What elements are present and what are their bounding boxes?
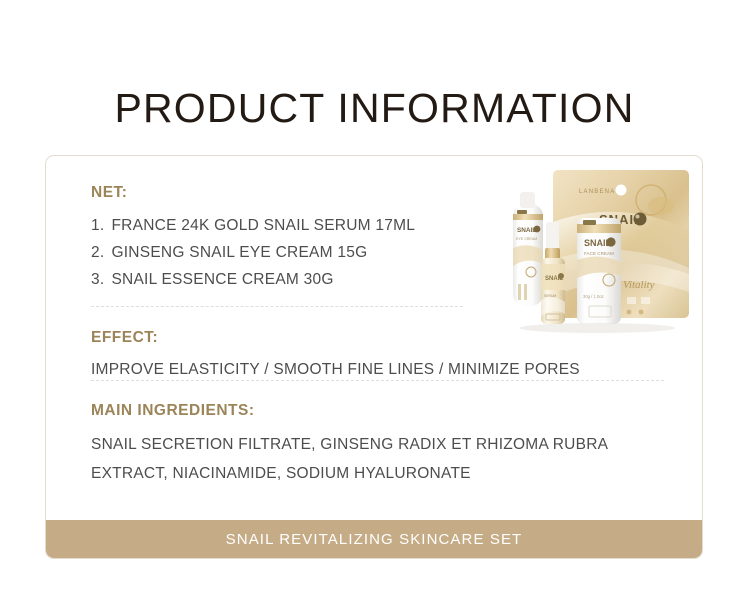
net-item-text: FRANCE 24K GOLD SNAIL SERUM 17ML xyxy=(111,217,415,234)
svg-text:EYE CREAM: EYE CREAM xyxy=(516,237,537,241)
section-divider xyxy=(91,380,664,381)
section-ingredients-heading: MAIN INGREDIENTS: xyxy=(91,401,608,421)
ingredients-line-2: EXTRACT, NIACINAMIDE, SODIUM HYALURONATE xyxy=(91,459,608,488)
face-cream-tube-image: SNAIL FACE CREAM 30g / 1.0oz xyxy=(577,218,621,324)
eye-cream-tube-image: SNAIL EYE CREAM xyxy=(513,192,543,306)
ingredients-line-1: SNAIL SECRETION FILTRATE, GINSENG RADIX … xyxy=(91,430,608,459)
svg-text:30g / 1.0oz: 30g / 1.0oz xyxy=(583,294,604,299)
net-item-text: SNAIL ESSENCE CREAM 30G xyxy=(111,271,333,288)
net-item-number: 2. xyxy=(91,244,104,261)
net-item-number: 1. xyxy=(91,217,104,234)
svg-text:SERUM: SERUM xyxy=(544,294,556,298)
section-effect: EFFECT: IMPROVE ELASTICITY / SMOOTH FINE… xyxy=(91,328,580,383)
section-ingredients: MAIN INGREDIENTS: SNAIL SECRETION FILTRA… xyxy=(91,401,608,488)
footer-banner: SNAIL REVITALIZING SKINCARE SET xyxy=(46,520,702,558)
product-info-card: NET: 1.FRANCE 24K GOLD SNAIL SERUM 17ML … xyxy=(45,155,703,559)
product-photo: LANBENA SNAIL Vitality xyxy=(501,164,697,336)
svg-text:Vitality: Vitality xyxy=(623,279,655,291)
svg-text:LANBENA: LANBENA xyxy=(579,189,615,195)
net-list-item: 3.SNAIL ESSENCE CREAM 30G xyxy=(91,266,415,293)
card-body: NET: 1.FRANCE 24K GOLD SNAIL SERUM 17ML … xyxy=(46,156,702,520)
section-divider xyxy=(91,306,463,307)
svg-text:FACE CREAM: FACE CREAM xyxy=(584,251,614,256)
ingredients-lines: SNAIL SECRETION FILTRATE, GINSENG RADIX … xyxy=(91,430,608,488)
net-list: 1.FRANCE 24K GOLD SNAIL SERUM 17ML 2.GIN… xyxy=(91,212,415,293)
net-list-item: 1.FRANCE 24K GOLD SNAIL SERUM 17ML xyxy=(91,212,415,239)
section-net-heading: NET: xyxy=(91,183,415,203)
net-item-number: 3. xyxy=(91,271,104,288)
product-information-page: PRODUCT INFORMATION NET: 1.FRANCE 24K GO… xyxy=(0,0,749,613)
section-net: NET: 1.FRANCE 24K GOLD SNAIL SERUM 17ML … xyxy=(91,183,415,293)
net-item-text: GINSENG SNAIL EYE CREAM 15G xyxy=(111,244,367,261)
net-list-item: 2.GINSENG SNAIL EYE CREAM 15G xyxy=(91,239,415,266)
svg-text:SNAIL: SNAIL xyxy=(517,227,536,234)
footer-banner-text: SNAIL REVITALIZING SKINCARE SET xyxy=(226,531,523,548)
page-title: PRODUCT INFORMATION xyxy=(0,84,749,132)
